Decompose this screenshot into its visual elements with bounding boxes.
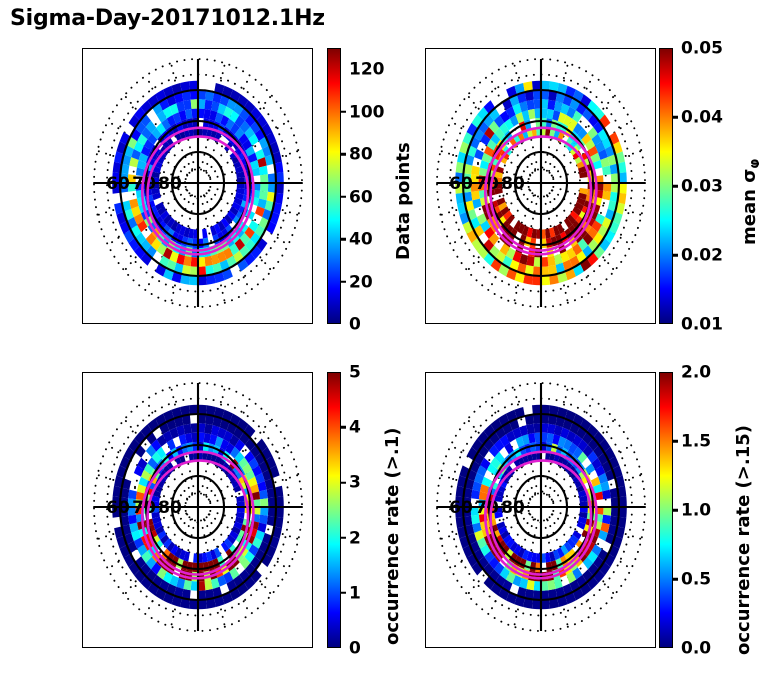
colorbar-tick: 0.04 — [673, 107, 723, 128]
polar-axes-svg: 607080 — [82, 372, 313, 648]
tick-mark-icon — [673, 509, 678, 511]
colorbar-occurrence-rate-01[interactable] — [327, 372, 341, 648]
tick-mark-icon — [673, 371, 678, 373]
data-bin — [541, 414, 549, 424]
sigma-phi-subscript: φ — [748, 159, 759, 169]
colorbar-data-points[interactable] — [327, 48, 341, 324]
tick-mark-icon — [673, 185, 678, 187]
colorbar-tick: 120 — [341, 59, 385, 80]
colorbar-tick-label: 1 — [349, 583, 361, 603]
tick-mark-icon — [673, 440, 678, 442]
figure-root: Sigma-Day-20171012.1Hz 607080 0204060801… — [0, 0, 759, 674]
data-bin — [533, 266, 541, 276]
data-bin — [533, 90, 541, 100]
colorbar-tick: 80 — [341, 144, 373, 165]
data-bin — [191, 423, 198, 433]
colorbar-tick: 2.0 — [673, 362, 711, 383]
tick-mark-icon — [341, 481, 346, 483]
tick-mark-icon — [341, 371, 346, 373]
colorbar-tick-label: 4 — [349, 417, 361, 437]
tick-mark-icon — [673, 254, 678, 256]
colorbar-tick: 100 — [341, 101, 385, 122]
data-bin — [198, 581, 205, 591]
colorbar-tick: 60 — [341, 186, 373, 207]
colorbar-tick-label: 0.01 — [681, 314, 723, 334]
colorbar-tick: 1.5 — [673, 431, 711, 452]
tick-mark-icon — [341, 647, 346, 649]
data-bin — [198, 423, 205, 433]
tick-mark-icon — [341, 426, 346, 428]
colorbar-tick: 0.01 — [673, 314, 723, 335]
colorbar-label-text: mean σ — [739, 169, 759, 245]
latitude-tick-label: 80 — [158, 498, 182, 518]
data-bin — [202, 228, 208, 238]
colorbar-tick-label: 80 — [349, 144, 373, 164]
polar-axes-svg: 607080 — [82, 48, 313, 324]
data-bin — [260, 498, 268, 507]
colorbar-tick: 1 — [341, 583, 361, 604]
colorbar-tick: 5 — [341, 362, 361, 383]
tick-mark-icon — [341, 196, 346, 198]
colorbar-tick-label: 2 — [349, 528, 361, 548]
colorbar-label-occurrence-rate-015: occurrence rate (>.15) — [733, 425, 754, 655]
colorbar-gradient — [328, 49, 340, 323]
colorbar-gradient — [660, 49, 672, 323]
colorbar-tick-label: 0 — [349, 314, 361, 334]
tick-mark-icon — [673, 323, 678, 325]
tick-mark-icon — [673, 47, 678, 49]
colorbar-tick-label: 60 — [349, 187, 373, 207]
data-bin — [603, 507, 611, 516]
mean-sigma-phi-panel[interactable]: 607080 — [425, 48, 656, 324]
colorbar-tick-label: 3 — [349, 473, 361, 493]
data-bin — [541, 423, 548, 433]
data-bin — [541, 581, 548, 591]
data-bin — [534, 99, 541, 109]
data-bin — [198, 99, 205, 109]
colorbar-tick-label: 0.05 — [681, 38, 723, 58]
data-bin — [541, 266, 549, 276]
occurrence-rate-gt-point1-panel[interactable]: 607080 — [82, 372, 313, 648]
polar-plot: 607080 — [425, 372, 656, 648]
colorbar-tick-label: 0.03 — [681, 176, 723, 196]
colorbar-tick: 2 — [341, 527, 361, 548]
data-bin — [602, 191, 611, 201]
tick-mark-icon — [341, 111, 346, 113]
colorbar-tick-label: 0.0 — [681, 638, 711, 658]
colorbar-tick-label: 20 — [349, 272, 373, 292]
tick-mark-icon — [673, 578, 678, 580]
colorbar-gradient — [660, 373, 672, 647]
data-bin — [191, 581, 198, 591]
colorbar-tick: 40 — [341, 229, 373, 250]
colorbar-tick: 0 — [341, 638, 361, 659]
tick-mark-icon — [341, 153, 346, 155]
data-bin — [533, 414, 541, 424]
occurrence-rate-gt-point15-panel[interactable]: 607080 — [425, 372, 656, 648]
polar-axes-svg: 607080 — [425, 372, 656, 648]
colorbar-label-mean-sigma-phi: mean σφ — [739, 159, 759, 245]
data-bin — [191, 99, 198, 109]
data-bin — [260, 174, 268, 183]
colorbar-tick: 1.0 — [673, 500, 711, 521]
data-bin — [541, 257, 548, 267]
colorbar-tick-label: 0.04 — [681, 107, 723, 127]
colorbar-tick-label: 0 — [349, 638, 361, 658]
polar-plot: 607080 — [82, 372, 313, 648]
data-bin — [203, 238, 209, 248]
tick-mark-icon — [341, 281, 346, 283]
data-bin — [191, 257, 198, 267]
data-bin — [534, 423, 541, 433]
colorbar-tick: 4 — [341, 417, 361, 438]
data-points-panel[interactable]: 607080 — [82, 48, 313, 324]
colorbar-occurrence-rate-015[interactable] — [659, 372, 673, 648]
colorbar-tick-label: 1.5 — [681, 431, 711, 451]
data-bin — [534, 257, 541, 267]
data-bin — [541, 90, 549, 100]
data-bin — [198, 266, 206, 276]
page-title: Sigma-Day-20171012.1Hz — [10, 6, 325, 31]
data-bin — [198, 414, 206, 424]
colorbar-tick-label: 0.02 — [681, 245, 723, 265]
latitude-tick-label: 80 — [158, 174, 182, 194]
data-bin — [198, 90, 206, 100]
colorbar-tick-label: 2.0 — [681, 362, 711, 382]
latitude-tick-label: 80 — [501, 498, 525, 518]
data-bin — [190, 90, 198, 100]
colorbar-tick: 0 — [341, 314, 361, 335]
colorbar-tick-label: 40 — [349, 229, 373, 249]
colorbar-tick: 0.02 — [673, 245, 723, 266]
data-bin — [541, 99, 548, 109]
latitude-tick-label: 80 — [501, 174, 525, 194]
colorbar-tick: 0.05 — [673, 38, 723, 59]
colorbar-tick-label: 100 — [349, 102, 385, 122]
polar-plot: 607080 — [82, 48, 313, 324]
tick-mark-icon — [341, 323, 346, 325]
data-bin — [533, 590, 541, 600]
data-bin — [260, 183, 268, 192]
data-bin — [603, 183, 611, 192]
colorbar-tick: 0.03 — [673, 176, 723, 197]
colorbar-tick-label: 5 — [349, 362, 361, 382]
data-bin — [198, 257, 205, 267]
tick-mark-icon — [341, 592, 346, 594]
colorbar-tick: 0.0 — [673, 638, 711, 659]
colorbar-label-occurrence-rate-01: occurrence rate (>.1) — [382, 428, 403, 645]
latitude-tick-label: 60 — [106, 498, 130, 518]
latitude-tick-label: 60 — [106, 174, 130, 194]
tick-mark-icon — [341, 238, 346, 240]
data-bin — [190, 266, 198, 276]
tick-mark-icon — [673, 647, 678, 649]
polar-plot: 607080 — [425, 48, 656, 324]
colorbar-tick: 20 — [341, 271, 373, 292]
data-bin — [260, 507, 268, 516]
colorbar-tick: 0.5 — [673, 569, 711, 590]
data-bin — [236, 495, 244, 502]
latitude-tick-label: 60 — [449, 174, 473, 194]
tick-mark-icon — [341, 68, 346, 70]
colorbar-tick-label: 1.0 — [681, 500, 711, 520]
colorbar-tick-label: 0.5 — [681, 569, 711, 589]
colorbar-label-data-points: Data points — [393, 142, 414, 260]
latitude-tick-label: 60 — [449, 498, 473, 518]
colorbar-tick-label: 120 — [349, 59, 385, 79]
tick-mark-icon — [673, 116, 678, 118]
colorbar-tick: 3 — [341, 472, 361, 493]
colorbar-mean-sigma-phi[interactable] — [659, 48, 673, 324]
polar-axes-svg: 607080 — [425, 48, 656, 324]
data-bin — [541, 590, 549, 600]
data-bin — [534, 581, 541, 591]
colorbar-gradient — [328, 373, 340, 647]
tick-mark-icon — [341, 537, 346, 539]
data-bin — [198, 590, 206, 600]
